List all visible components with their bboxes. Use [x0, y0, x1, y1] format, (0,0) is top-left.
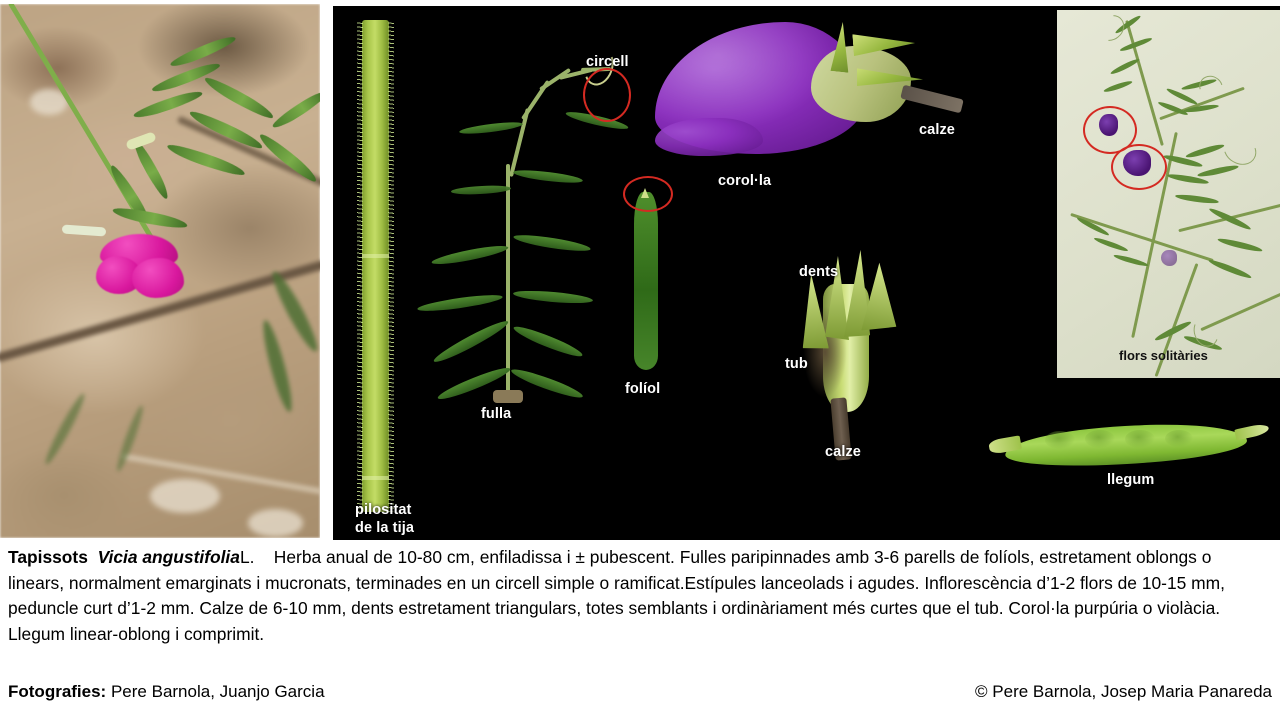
- inset-leaflet: [1183, 104, 1219, 114]
- leaflet-specimen-foliol: [634, 192, 658, 370]
- background-stone: [150, 479, 220, 513]
- flower-keel-petal: [132, 258, 184, 298]
- inset-tendril: [1093, 10, 1130, 46]
- inset-leaflet: [1208, 206, 1252, 232]
- solitary-flowers-inset: flors solitàries: [1057, 10, 1280, 378]
- pod-beak: [1234, 423, 1270, 441]
- label-dents: dents: [799, 264, 838, 280]
- inset-leaflet: [1217, 237, 1263, 254]
- inset-leaflet: [1197, 164, 1239, 179]
- label-fulla: fulla: [481, 406, 511, 422]
- inset-solitary-flower: [1161, 250, 1177, 266]
- annotation-ring-foliol: [623, 176, 673, 212]
- inset-leaflet: [1175, 193, 1219, 205]
- common-name: Tapissots: [8, 547, 88, 567]
- background-stone: [248, 509, 303, 537]
- inset-label: flors solitàries: [1119, 348, 1208, 363]
- credits-block: Fotografies: Pere Barnola, Juanjo Garcia…: [8, 682, 1272, 702]
- inset-annotation-ring: [1111, 144, 1167, 190]
- label-corolla: corol·la: [718, 173, 771, 189]
- field-photograph: [0, 4, 320, 538]
- photographer-names: Pere Barnola, Juanjo Garcia: [111, 682, 325, 701]
- leaflet: [513, 289, 594, 306]
- leaflet: [417, 292, 504, 314]
- inset-leaflet: [1185, 143, 1225, 160]
- photo-credit: Fotografies: Pere Barnola, Juanjo Garcia: [8, 682, 325, 702]
- leaflet: [451, 184, 511, 195]
- pod-seed-bulge: [1045, 431, 1075, 449]
- label-pilositat-line2: de la tija: [355, 520, 414, 536]
- magenta-flower: [96, 232, 186, 302]
- inset-leaflet: [1093, 236, 1129, 253]
- leaf-rachis: [539, 68, 571, 91]
- leaf-rachis: [506, 164, 510, 396]
- botanical-plate: pilositat de la tija: [0, 0, 1280, 720]
- inset-leaflet: [1103, 79, 1133, 93]
- leaf-base-stipule: [493, 390, 523, 403]
- annotation-ring-circell: [583, 68, 631, 122]
- label-pilositat-line1: pilositat: [355, 502, 412, 518]
- leaf-rachis: [509, 108, 530, 177]
- label-llegum: llegum: [1107, 472, 1154, 488]
- copyright-notice: © Pere Barnola, Josep Maria Panareda: [975, 682, 1272, 702]
- leaflet: [431, 317, 510, 366]
- pod-seed-bulge: [1085, 430, 1115, 448]
- inset-leaflet: [1110, 57, 1141, 76]
- hairy-stem-specimen: [362, 20, 389, 512]
- label-calze-bottom: calze: [825, 444, 861, 460]
- label-calze-top: calze: [919, 122, 955, 138]
- corolla-keel: [655, 118, 763, 156]
- scientific-name: Vicia angustifolia: [98, 547, 240, 567]
- pedicel: [900, 85, 964, 114]
- leaflet: [513, 232, 592, 254]
- label-circell: circell: [586, 54, 629, 70]
- stem-node: [362, 254, 389, 258]
- inset-vine-stem: [1070, 213, 1214, 262]
- label-tub: tub: [785, 356, 808, 372]
- inset-tendril: [1218, 129, 1261, 170]
- pod-body: [1004, 420, 1248, 471]
- leaflet: [459, 120, 523, 136]
- leaflet: [431, 243, 509, 268]
- inset-leaflet: [1113, 253, 1149, 268]
- image-band: pilositat de la tija: [0, 0, 1280, 540]
- leaflet: [512, 323, 585, 361]
- caption-block: Tapissots Vicia angustifoliaL. Herba anu…: [8, 545, 1272, 647]
- leaflet: [513, 168, 584, 185]
- stem-node: [362, 476, 389, 480]
- pod-seed-bulge: [1165, 430, 1193, 447]
- label-foliol: folíol: [625, 381, 660, 397]
- photo-credit-label: Fotografies:: [8, 682, 106, 701]
- pod-seed-bulge: [1125, 430, 1155, 448]
- inset-leaflet: [1208, 258, 1253, 281]
- authority: L.: [240, 547, 255, 567]
- inset-tendril: [1195, 71, 1227, 102]
